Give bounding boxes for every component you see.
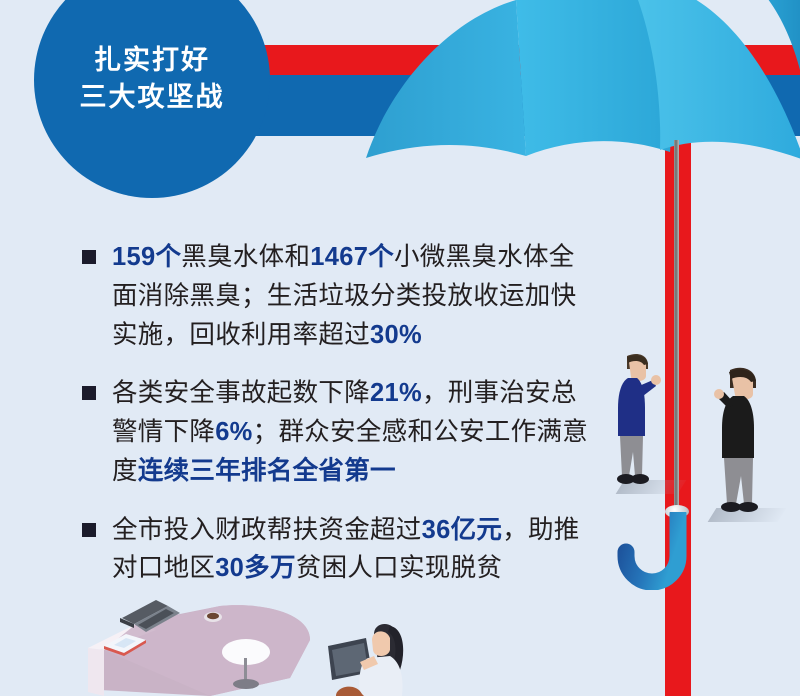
square-bullet-icon	[82, 250, 96, 264]
title-line-1: 扎实打好	[34, 42, 270, 79]
square-bullet-icon	[82, 523, 96, 537]
bullet-3-seg-1: 36亿元	[422, 516, 503, 544]
bullet-2-seg-3: 6%	[215, 418, 252, 446]
umbrella-handle-svg	[616, 512, 696, 590]
title-line-2: 三大攻坚战	[34, 79, 270, 116]
list-item: 全市投入财政帮扶资金超过36亿元，助推对口地区30多万贫困人口实现脱贫	[78, 511, 598, 589]
person-black-jacket	[712, 366, 770, 522]
umbrella-pole	[674, 140, 679, 512]
bullet-2-seg-5: 连续三年排名全省第一	[138, 457, 396, 485]
bullet-1-seg-2: 1467个	[310, 243, 394, 271]
bullet-3-seg-4: 贫困人口实现脱贫	[296, 554, 502, 582]
list-item: 各类安全事故起数下降21%，刑事治安总警情下降6%；群众安全感和公安工作满意度连…	[78, 374, 598, 490]
page-title: 扎实打好 三大攻坚战	[34, 42, 270, 117]
umbrella-canopy-svg	[330, 0, 800, 170]
infographic-poster: 扎实打好 三大攻坚战	[0, 0, 800, 696]
bullet-1-seg-0: 159个	[112, 243, 181, 271]
bullet-2-seg-1: 21%	[370, 379, 422, 407]
person-black-jacket-svg	[712, 366, 770, 522]
umbrella-canopy	[330, 0, 800, 170]
bullet-3-seg-0: 全市投入财政帮扶资金超过	[112, 516, 422, 544]
bullet-text-3: 全市投入财政帮扶资金超过36亿元，助推对口地区30多万贫困人口实现脱贫	[112, 511, 598, 589]
office-scene-svg	[60, 600, 480, 696]
bullet-text-1: 159个黑臭水体和1467个小微黑臭水体全面消除黑臭；生活垃圾分类投放收运加快实…	[112, 238, 598, 354]
bullet-text-2: 各类安全事故起数下降21%，刑事治安总警情下降6%；群众安全感和公安工作满意度连…	[112, 374, 598, 490]
list-item: 159个黑臭水体和1467个小微黑臭水体全面消除黑臭；生活垃圾分类投放收运加快实…	[78, 238, 598, 354]
person-blue-jacket	[615, 352, 663, 494]
bullet-1-seg-1: 黑臭水体和	[181, 243, 310, 271]
person-blue-jacket-svg	[615, 352, 663, 494]
bullet-3-seg-3: 30多万	[215, 554, 296, 582]
bullet-2-seg-0: 各类安全事故起数下降	[112, 379, 370, 407]
bullet-1-seg-4: 30%	[370, 321, 422, 349]
bullet-list: 159个黑臭水体和1467个小微黑臭水体全面消除黑臭；生活垃圾分类投放收运加快实…	[78, 238, 598, 608]
square-bullet-icon	[82, 386, 96, 400]
umbrella-handle-hook	[616, 512, 696, 590]
isometric-office-scene	[60, 600, 480, 696]
